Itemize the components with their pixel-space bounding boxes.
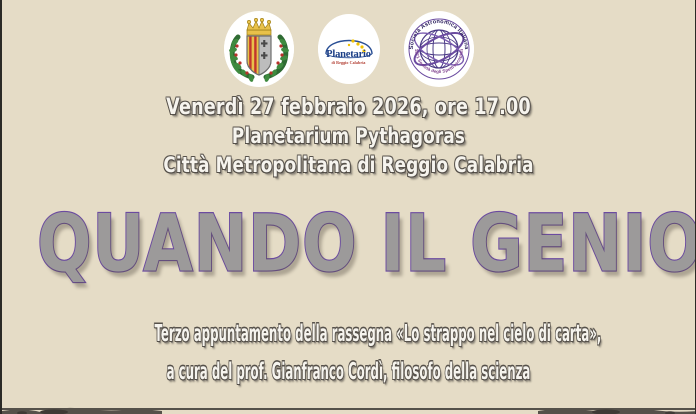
event-subtitle-block: Terzo appuntamento della rassegna «Lo st… (2, 314, 695, 390)
main-title-wrap: QUANDO IL GENIO È MALIGNO (2, 202, 695, 276)
event-date-time: Venerdì 27 febbraio 2026, ore 17.00 (71, 93, 625, 122)
societa-astronomica-italiana-logo: Società Astronomica Italiana 1871 Societ… (404, 11, 474, 87)
planetario-logo-subtitle: di Reggio Calabria (318, 61, 380, 65)
event-headline-block: Venerdì 27 febbraio 2026, ore 17.00 Plan… (2, 93, 695, 180)
event-poster: Planetario di Reggio Calabria (0, 0, 696, 414)
event-venue: Planetarium Pythagoras (71, 122, 625, 151)
comune-coat-of-arms-logo (224, 11, 294, 87)
planetario-logo: Planetario di Reggio Calabria (318, 14, 380, 84)
bottom-decorative-band (2, 404, 695, 414)
ornament-shapes (2, 404, 695, 414)
speaker-line: a cura del prof. Gianfranco Cordì, filos… (154, 350, 542, 393)
coat-of-arms-icon (224, 11, 294, 87)
planetario-logo-title: Planetario (318, 50, 380, 61)
series-line: Terzo appuntamento della rassegna «Lo st… (154, 312, 542, 355)
event-main-title: QUANDO IL GENIO È MALIGNO (37, 202, 696, 288)
logo-row: Planetario di Reggio Calabria (2, 8, 695, 90)
armillary-sphere-icon: Società Astronomica Italiana 1871 Societ… (404, 11, 474, 87)
event-city: Città Metropolitana di Reggio Calabria (71, 151, 625, 180)
